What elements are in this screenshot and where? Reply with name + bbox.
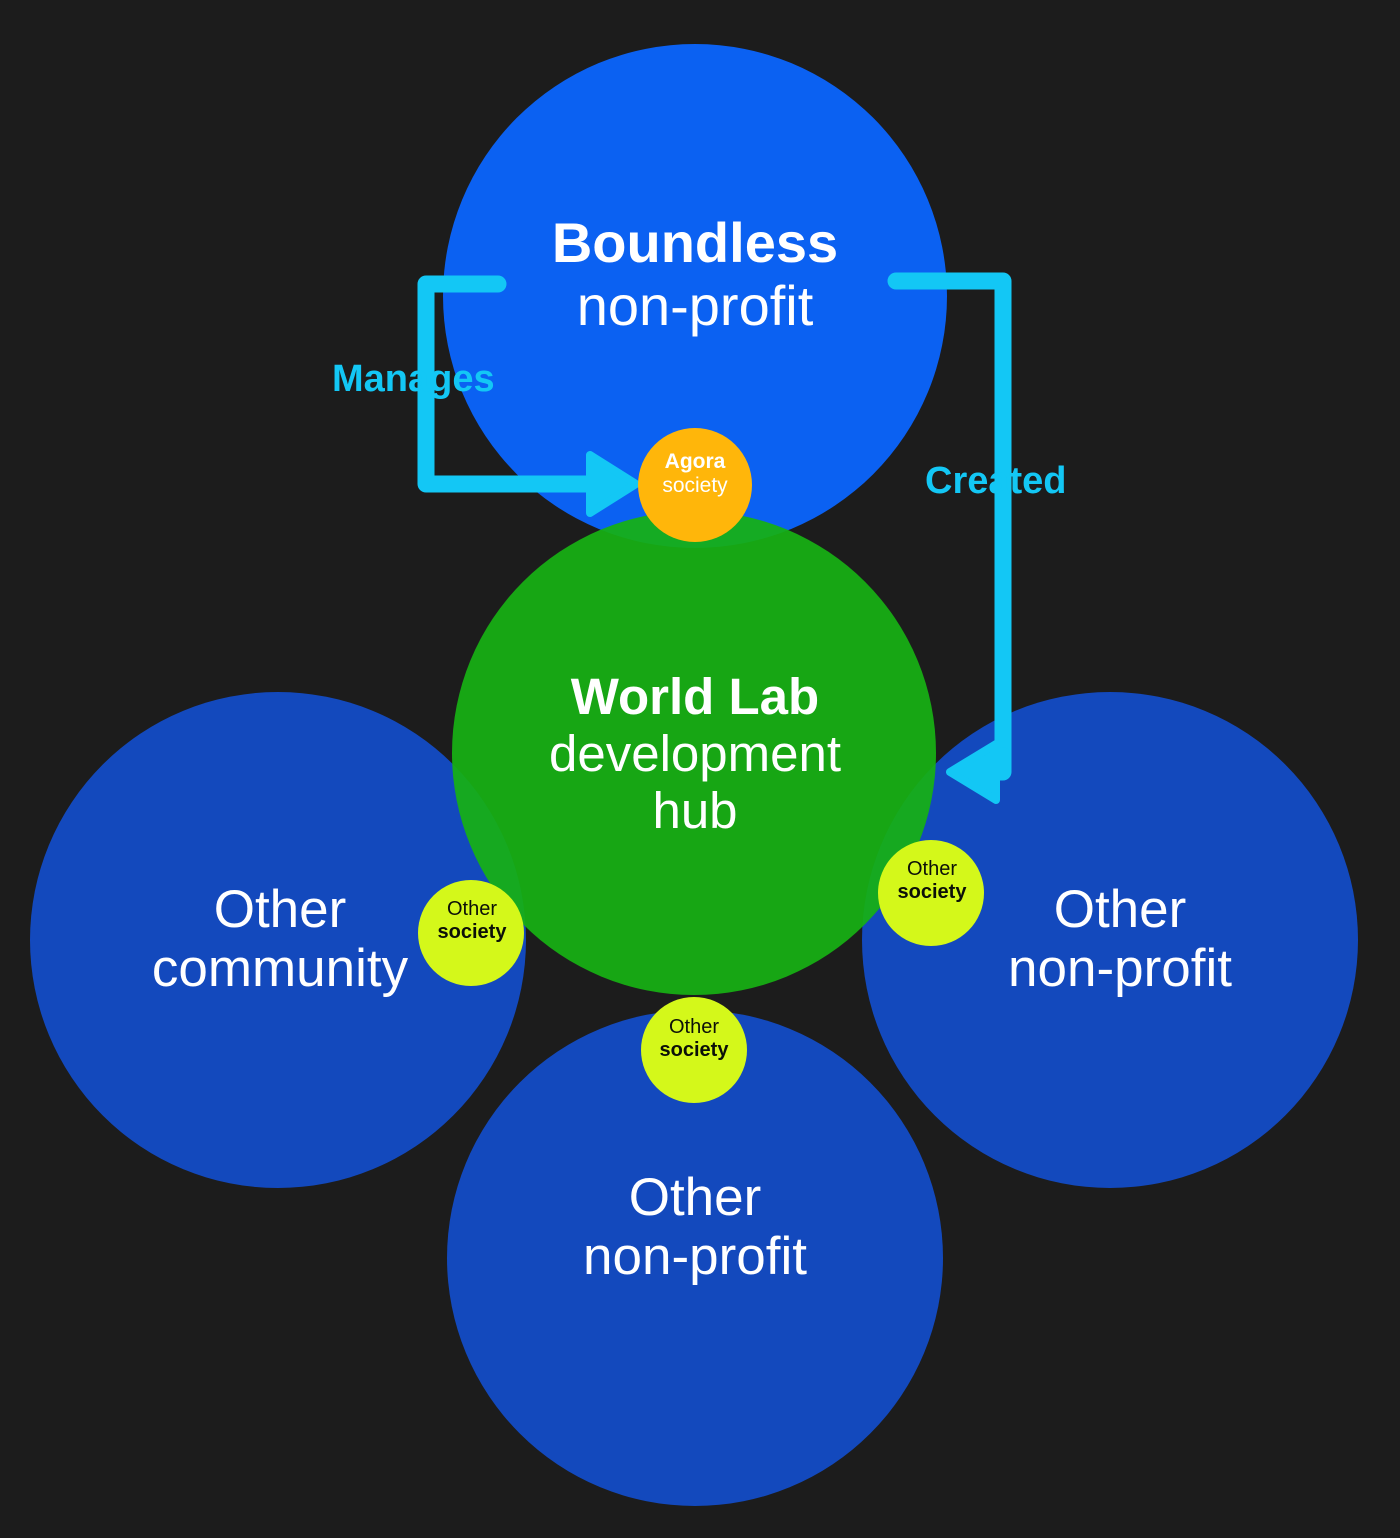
diagram-shapes [0,0,1400,1538]
circle-world-lab[interactable] [452,511,936,995]
badge-circle-other-society-right[interactable] [878,840,984,946]
badge-circle-agora-society[interactable] [638,428,752,542]
diagram-canvas: Boundless non-profit World Lab developme… [0,0,1400,1538]
badge-circle-other-society-left[interactable] [418,880,524,986]
badge-circle-other-society-bottom[interactable] [641,997,747,1103]
